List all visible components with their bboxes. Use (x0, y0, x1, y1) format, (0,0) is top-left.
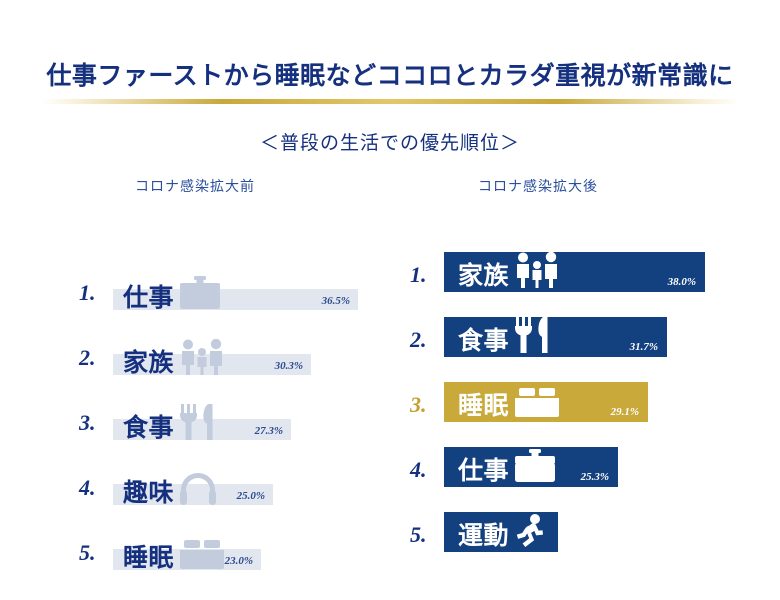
running-icon (515, 514, 547, 548)
ranking-row: 3.食事27.3% (79, 382, 361, 440)
rank-number: 5. (410, 522, 427, 548)
bar-label-group: 食事 (458, 317, 549, 354)
page-subtitle: ＜普段の生活での優先順位＞ (0, 128, 780, 155)
column-header-before: コロナ感染拡大前 (135, 176, 255, 196)
category-label: 趣味 (123, 481, 174, 506)
percentage-value: 25.3% (581, 471, 609, 483)
value-bar: 睡眠29.1% (444, 382, 648, 422)
rank-number: 4. (79, 475, 96, 501)
value-bar: 家族38.0% (444, 252, 705, 292)
ranking-row: 5.運動16.4% (410, 494, 628, 552)
ranking-row: 3.睡眠29.1% (410, 364, 718, 422)
bar-label-group: 趣味 (123, 473, 216, 506)
bed-icon (180, 540, 224, 570)
percentage-value: 38.0% (668, 276, 696, 288)
rank-number: 1. (79, 280, 96, 306)
column-header-after: コロナ感染拡大後 (478, 176, 598, 196)
rank-number: 2. (410, 327, 427, 353)
rank-number: 3. (79, 410, 96, 436)
ranking-row: 1.仕事36.5% (79, 252, 428, 310)
value-bar: 食事31.7% (444, 317, 667, 357)
bar-label-group: 仕事 (123, 276, 220, 311)
cutlery-icon (515, 317, 549, 353)
value-bar: 睡眠23.0% (113, 549, 261, 570)
category-label: 家族 (123, 351, 174, 376)
category-label: 運動 (458, 524, 509, 549)
ranking-row: 2.食事31.7% (410, 299, 737, 357)
bar-label-group: 家族 (123, 339, 224, 376)
value-bar: 運動16.4% (444, 512, 558, 552)
title-divider (40, 99, 740, 104)
bar-label-group: 仕事 (458, 449, 555, 484)
ranking-row: 1.家族38.0% (410, 234, 775, 292)
percentage-value: 25.0% (237, 490, 265, 502)
ranking-row: 2.家族30.3% (79, 317, 381, 375)
category-label: 家族 (458, 264, 509, 289)
bar-label-group: 睡眠 (458, 388, 559, 419)
rank-number: 3. (410, 392, 427, 418)
category-label: 食事 (123, 416, 174, 441)
family-icon (515, 252, 559, 288)
briefcase-icon (180, 276, 220, 310)
bar-label-group: 食事 (123, 404, 214, 441)
rank-number: 4. (410, 457, 427, 483)
category-label: 食事 (458, 329, 509, 354)
value-bar: 趣味25.0% (113, 484, 273, 505)
rank-number: 5. (79, 540, 96, 566)
percentage-value: 36.5% (322, 295, 350, 307)
category-label: 睡眠 (458, 394, 509, 419)
ranking-row: 5.睡眠23.0% (79, 512, 331, 570)
value-bar: 仕事36.5% (113, 289, 358, 310)
category-label: 仕事 (458, 459, 509, 484)
bed-icon (515, 388, 559, 418)
infographic-page: 仕事ファーストから睡眠などココロとカラダ重視が新常識に ＜普段の生活での優先順位… (0, 0, 780, 600)
percentage-value: 30.3% (275, 360, 303, 372)
briefcase-icon (515, 449, 555, 483)
headphones-icon (180, 473, 216, 505)
value-bar: 食事27.3% (113, 419, 291, 440)
value-bar: 仕事25.3% (444, 447, 618, 487)
percentage-value: 29.1% (611, 406, 639, 418)
cutlery-icon (180, 404, 214, 440)
bar-label-group: 睡眠 (123, 540, 224, 571)
value-bar: 家族30.3% (113, 354, 311, 375)
percentage-value: 23.0% (225, 555, 253, 567)
bar-label-group: 運動 (458, 514, 547, 549)
page-title: 仕事ファーストから睡眠などココロとカラダ重視が新常識に (0, 56, 780, 92)
family-icon (180, 339, 224, 375)
ranking-row: 4.趣味25.0% (79, 447, 343, 505)
category-label: 睡眠 (123, 546, 174, 571)
percentage-value: 27.3% (255, 425, 283, 437)
percentage-value: 31.7% (630, 341, 658, 353)
category-label: 仕事 (123, 286, 174, 311)
rank-number: 1. (410, 262, 427, 288)
rank-number: 2. (79, 345, 96, 371)
bar-label-group: 家族 (458, 252, 559, 289)
ranking-row: 4.仕事25.3% (410, 429, 688, 487)
